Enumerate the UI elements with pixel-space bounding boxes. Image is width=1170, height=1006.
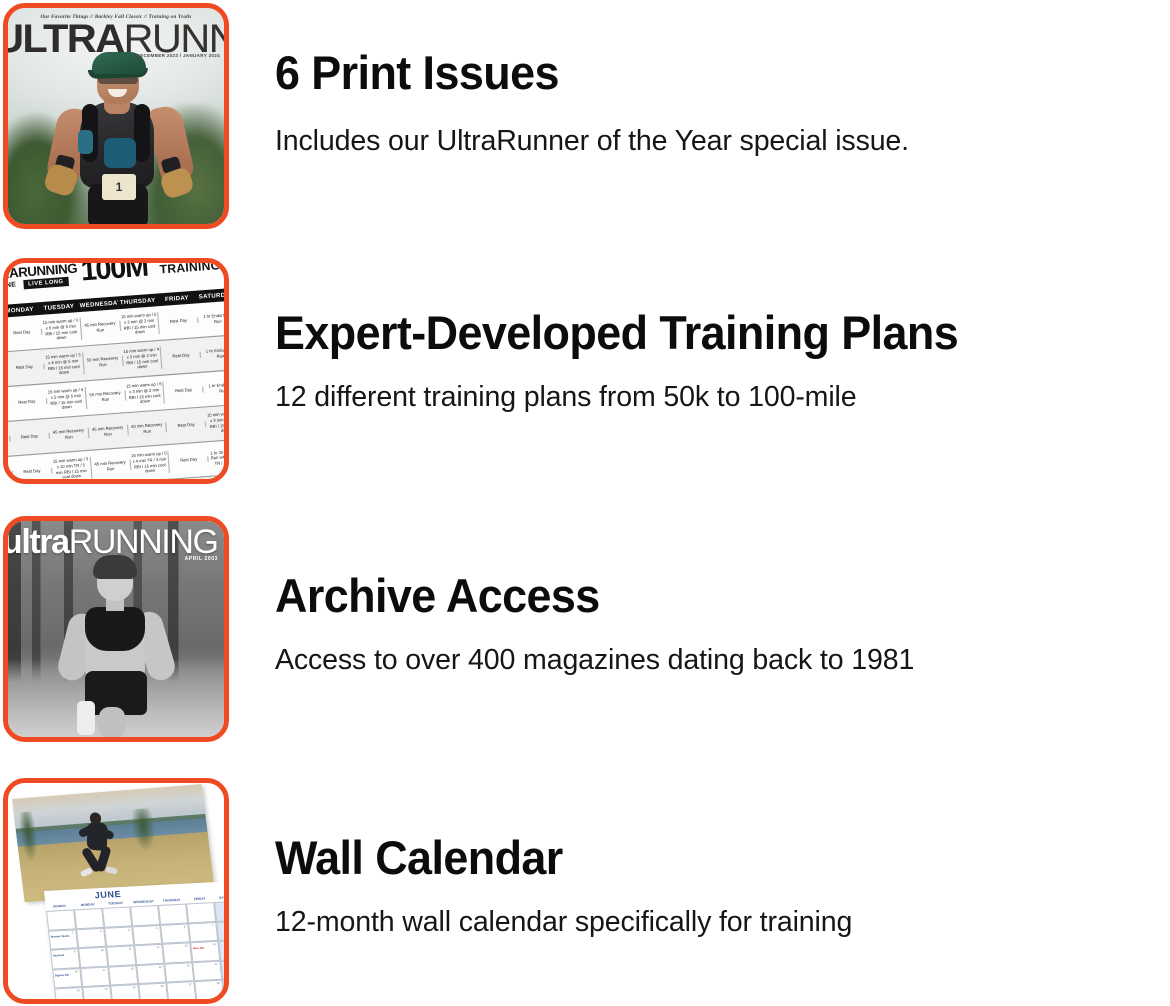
calendar-day-cell: 4 <box>104 926 134 947</box>
weekday-label: THURSDAY <box>157 898 185 903</box>
calendar-day-cell: 13 <box>162 943 192 964</box>
benefit-item-print-issues: 1 Our Favorite Things // Barkley Fall Cl… <box>0 0 1170 255</box>
day-number: 16 <box>75 970 78 973</box>
calendar-day-cell: 28 <box>194 980 224 999</box>
calendar-day-cell: 23 <box>54 987 84 999</box>
day-number: 27 <box>189 984 192 987</box>
calendar-day-cell <box>74 908 104 929</box>
calendar-event: Hardrock <box>53 954 65 958</box>
calendar-day-cell: 9Hardrock <box>50 948 80 969</box>
calendar-day-cell: 6 <box>160 923 190 944</box>
calendar-day-cell: 16Bigfoot 200 <box>52 968 82 989</box>
weekday-label: WEDNESDAY <box>129 899 157 904</box>
calendar-day-cell: 7 <box>188 922 218 943</box>
table-cell: Rest Day <box>13 468 53 476</box>
table-cell: Rest Day <box>8 329 42 337</box>
calendar-day-cell: 15 <box>218 940 224 961</box>
table-body: 1Rest Day15 min warm up / 3 x 5 min @ 5 … <box>8 298 224 479</box>
table-cell: Rest Day <box>159 317 199 325</box>
day-number: 23 <box>77 990 80 993</box>
table-cell: Rest Day <box>162 352 202 360</box>
table-cell: Rest Day <box>170 456 210 464</box>
table-cell: 15 min warm up / 4 x 3 min @ 2 min RBI /… <box>122 347 163 371</box>
table-cell: Rest Day <box>167 422 207 430</box>
weekday-label: FRIDAY <box>185 896 213 901</box>
training-plan-table: WEEK MONDAY TUESDAY WEDNESDAY THURSDAY F… <box>8 285 224 479</box>
column-header: MONDAY <box>8 305 40 315</box>
thumbnail-ultrarunning-magazine-cover[interactable]: 1 Our Favorite Things // Barkley Fall Cl… <box>3 3 229 229</box>
day-number: 4 <box>128 928 130 931</box>
table-cell: 15 min warm up / 3 x 5 min @ 5 min RBI /… <box>41 318 82 342</box>
benefit-description: 12-month wall calendar specifically for … <box>275 905 1137 939</box>
calendar-day-cell: 27 <box>166 982 196 999</box>
column-header: FRIDAY <box>157 294 197 304</box>
calendar-day-cell <box>46 909 76 930</box>
day-number: 13 <box>185 945 188 948</box>
archive-runner-illustration <box>51 551 181 737</box>
day-number: 9 <box>74 951 76 954</box>
calendar-day-cell: 20 <box>164 962 194 983</box>
table-cell: 15 min warm up / 3 x 10 min TR / 5 min R… <box>51 457 92 479</box>
table-cell: 15 min warm up / 5 x 4 min TR / 3 min RB… <box>130 451 171 475</box>
table-cell: 15 min warm up / 5 x 3 min @ 2 min RBI /… <box>120 312 161 336</box>
cover-runner-illustration: 1 <box>44 46 194 224</box>
day-number: 7 <box>212 924 214 927</box>
calendar-month-label: JUNE <box>94 889 121 900</box>
benefit-description: Includes our UltraRunner of the Year spe… <box>275 124 1137 158</box>
column-header: WEDNESDAY <box>78 299 118 309</box>
table-cell: 1 hr Endurance Run <box>201 347 224 361</box>
column-header: TUESDAY <box>39 302 79 312</box>
archive-cover-issue-date: APRIL 2003 <box>185 556 218 562</box>
table-cell: 15 min warm up / 3 x 6 min @ 5 min RBI /… <box>44 353 85 377</box>
benefit-copy: Wall Calendar 12-month wall calendar spe… <box>229 775 1170 939</box>
thumbnail-wall-calendar[interactable]: JUNE SUNDAY MONDAY TUESDAY WEDNESDAY THU… <box>3 778 229 1004</box>
benefit-title: 6 Print Issues <box>275 49 1111 98</box>
table-cell: 45 min Recovery Run <box>81 321 121 335</box>
weekday-label: MONDAY <box>73 902 101 907</box>
day-number: 11 <box>129 948 132 951</box>
day-number: 2 <box>72 931 74 934</box>
table-cell: 40 min Recovery Run <box>128 422 168 436</box>
benefit-title: Wall Calendar <box>275 834 1111 883</box>
day-number: 26 <box>161 985 164 988</box>
calendar-day-cell <box>102 906 132 927</box>
benefits-list: 1 Our Favorite Things // Barkley Fall Cl… <box>0 0 1170 1006</box>
calendar-day-cell: 21 <box>192 961 222 982</box>
day-number: 20 <box>187 964 190 967</box>
cover-issue-date: DECEMBER 2023 / JANUARY 2024 <box>137 53 220 58</box>
thumbnail-archive-magazine-cover[interactable]: ultraRUNNING APRIL 2003 <box>3 516 229 742</box>
benefit-item-training-plans: ULTRARUNNING MAGAZINE LIVE LONG 100M BEG… <box>0 255 1170 513</box>
calendar-highlight-event: Race Day <box>193 947 205 951</box>
table-cell: Rest Day <box>8 364 45 372</box>
table-cell: 1 hr Endurance Run <box>203 381 224 395</box>
table-cell: 15 min warm up / 6 x 3 min @ 2 min RBI /… <box>125 382 166 406</box>
table-cell: 15 min warm up / 4 x 5 min @ 5 min RBI /… <box>46 388 87 412</box>
benefit-description: Access to over 400 magazines dating back… <box>275 643 1137 677</box>
day-number: 12 <box>157 946 160 949</box>
weekday-label: SATURDAY <box>213 895 224 900</box>
table-cell: Rest Day <box>8 398 47 406</box>
benefit-item-archive-access: ultraRUNNING APRIL 2003 Archive Access A… <box>0 513 1170 775</box>
calendar-day-cell: 3 <box>76 927 106 948</box>
plan-title: BEGINNERTRAINING PLAN <box>158 263 224 277</box>
benefit-copy: 6 Print Issues Includes our UltraRunner … <box>229 0 1170 158</box>
table-cell: 1 hr 30 Endurance Run with 3 x 6 min TR … <box>208 448 224 467</box>
day-number: 18 <box>131 967 134 970</box>
calendar-day-cell: 24 <box>82 986 112 999</box>
day-number: 14 <box>213 943 216 946</box>
calendar-day-cell: 1 <box>214 901 224 922</box>
table-cell: 45 min Recovery Run <box>49 428 89 442</box>
day-number: 3 <box>100 930 102 933</box>
calendar-day-cell <box>186 902 216 923</box>
table-cell: 15 min warm up / 4 x 3 min @ 3 min RBI /… <box>206 411 224 435</box>
calendar-event: Bigfoot 200 <box>55 973 69 977</box>
weekday-label: SUNDAY <box>45 903 73 908</box>
calendar-day-cell: 8 <box>216 920 224 941</box>
benefit-description: 12 different training plans from 50k to … <box>275 380 1137 414</box>
masthead-bold: ULTRA <box>8 17 124 61</box>
table-cell: 50 min Recovery Run <box>83 355 123 369</box>
thumbnail-training-plan-sheet[interactable]: ULTRARUNNING MAGAZINE LIVE LONG 100M BEG… <box>3 258 229 484</box>
table-cell: 45 min Recovery Run <box>91 459 131 473</box>
plan-brand-subtitle: MAGAZINE <box>8 282 16 292</box>
column-header: THURSDAY <box>118 296 158 306</box>
table-cell: Rest Day <box>10 433 50 441</box>
calendar-day-cell <box>158 904 188 925</box>
day-number: 6 <box>184 925 186 928</box>
calendar-day-cell: 25 <box>110 984 140 999</box>
benefit-copy: Archive Access Access to over 400 magazi… <box>229 513 1170 677</box>
benefit-item-wall-calendar: JUNE SUNDAY MONDAY TUESDAY WEDNESDAY THU… <box>0 775 1170 1006</box>
calendar-day-grid: 12Western States3456789Hardrock101112131… <box>46 901 224 999</box>
benefit-title: Expert-Developed Training Plans <box>275 309 1111 358</box>
day-number: 5 <box>156 927 158 930</box>
weekday-label: TUESDAY <box>101 901 129 906</box>
masthead-bold: ultra <box>8 523 69 561</box>
archive-cover-masthead: ultraRUNNING <box>8 525 218 559</box>
calendar-day-cell <box>130 905 160 926</box>
calendar-day-cell: 18 <box>108 965 138 986</box>
day-number: 19 <box>159 966 162 969</box>
calendar-day-cell: 14Race Day <box>190 941 220 962</box>
day-number: 17 <box>103 969 106 972</box>
calendar-month-grid: JUNE SUNDAY MONDAY TUESDAY WEDNESDAY THU… <box>44 881 224 999</box>
table-cell: 45 min Recovery Run <box>88 425 128 439</box>
column-header: SATURDAY <box>196 291 224 301</box>
plan-distance: 100M <box>80 263 149 289</box>
calendar-day-cell: 19 <box>136 963 166 984</box>
benefit-copy: Expert-Developed Training Plans 12 diffe… <box>229 255 1170 414</box>
benefit-title: Archive Access <box>275 572 1111 621</box>
calendar-day-cell: 10 <box>78 947 108 968</box>
calendar-day-cell: 17 <box>80 966 110 987</box>
table-cell: Rest Day <box>164 387 204 395</box>
calendar-runner-illustration <box>72 811 124 880</box>
calendar-day-cell: 5 <box>132 925 162 946</box>
calendar-day-cell: 2Western States <box>48 929 78 950</box>
training-plan-sheet: ULTRARUNNING MAGAZINE LIVE LONG 100M BEG… <box>8 263 224 479</box>
calendar-day-cell: 12 <box>134 944 164 965</box>
table-cell: 1 hr Endurance Run <box>198 312 224 326</box>
day-number: 21 <box>215 963 218 966</box>
plan-brand-tagline: LIVE LONG <box>23 277 68 290</box>
day-number: 28 <box>217 982 220 985</box>
calendar-event: Western States <box>51 934 70 938</box>
wall-calendar-image: JUNE SUNDAY MONDAY TUESDAY WEDNESDAY THU… <box>8 783 224 999</box>
race-bib-number: 1 <box>102 174 136 200</box>
calendar-day-cell: 26 <box>138 983 168 999</box>
day-number: 24 <box>105 988 108 991</box>
table-cell: 50 min Recovery Run <box>86 390 126 404</box>
plan-title-line2: TRAINING PLAN <box>159 263 224 277</box>
day-number: 25 <box>133 987 136 990</box>
day-number: 10 <box>101 949 104 952</box>
calendar-day-cell: 11 <box>106 945 136 966</box>
